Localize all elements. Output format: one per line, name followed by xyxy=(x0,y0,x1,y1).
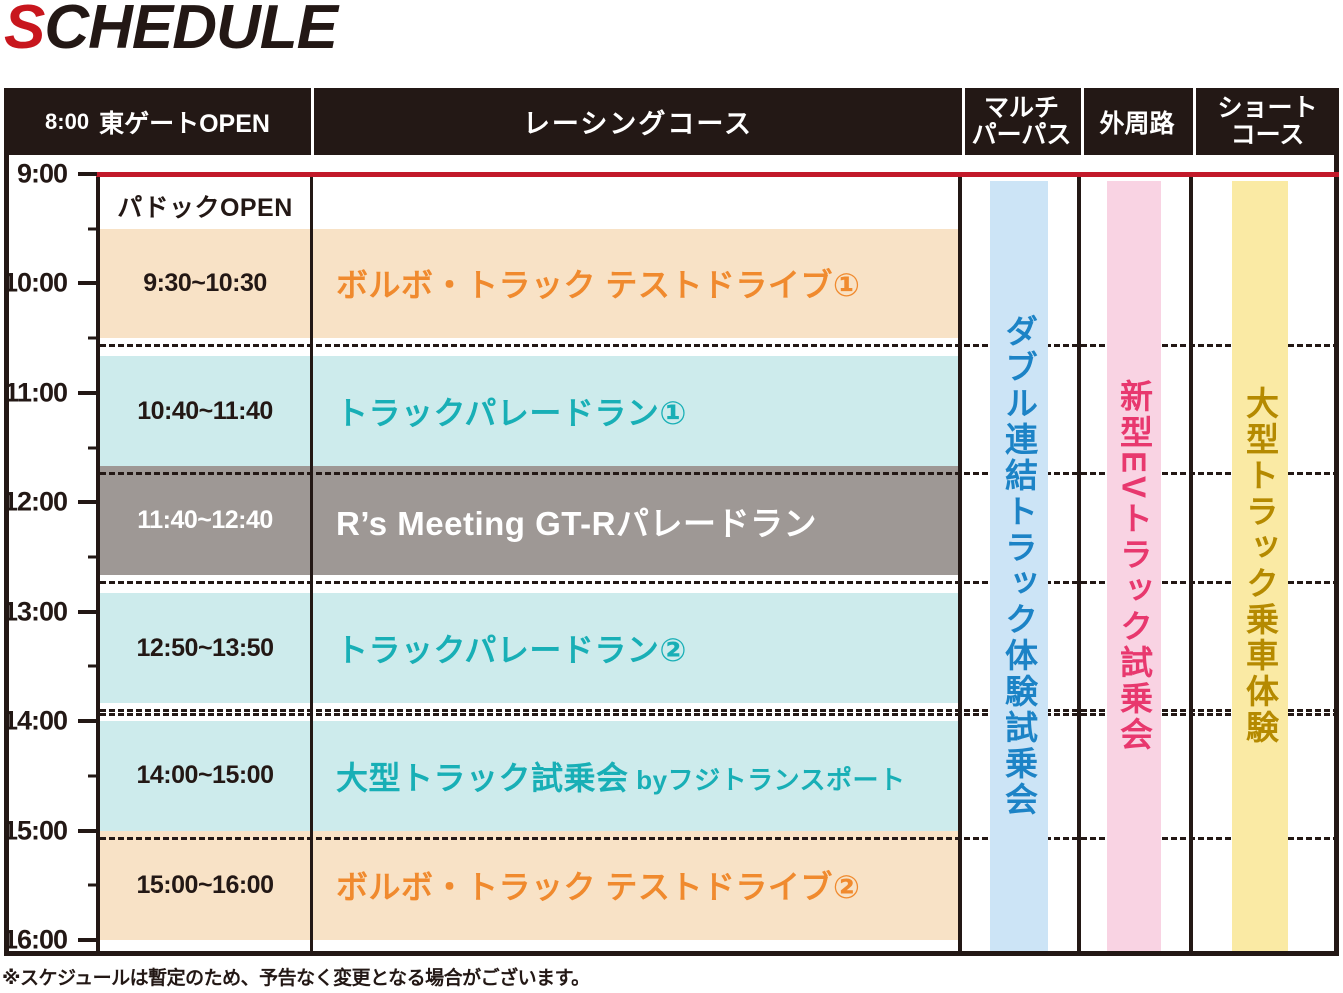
side-activity-label: 大型トラック乗車体験 xyxy=(1244,386,1277,746)
time-tick-mark xyxy=(78,391,97,395)
time-tick-label: 13:00 xyxy=(3,596,67,627)
event-row: 12:50~13:50トラックパレードラン② xyxy=(100,593,958,702)
footnote: ※スケジュールは暫定のため、予告なく変更となる場合がございます。 xyxy=(2,963,590,990)
event-time: 12:50~13:50 xyxy=(100,634,310,663)
event-row: 15:00~16:00ボルボ・トラック テストドライブ② xyxy=(100,831,958,940)
time-tick-minor xyxy=(88,884,97,887)
event-row: パドックOPEN xyxy=(100,174,310,229)
time-tick-label: 15:00 xyxy=(3,815,67,846)
time-tick-minor xyxy=(88,665,97,668)
event-time: 14:00~15:00 xyxy=(100,761,310,790)
side-activity-label: 新型EVトラック試乗会 xyxy=(1118,379,1151,753)
event-name: 大型トラック試乗会 byフジトランスポート xyxy=(310,753,958,799)
header-gate-open: 8:00 東ゲートOPEN xyxy=(4,88,311,155)
event-row: 11:40~12:40R’s Meeting GT-Rパレードラン xyxy=(100,466,958,575)
event-row: 10:40~11:40トラックパレードラン① xyxy=(100,356,958,465)
event-name: R’s Meeting GT-Rパレードラン xyxy=(310,497,958,545)
side-activity-label: ダブル連結トラック体験試乗会 xyxy=(1003,314,1036,818)
header-multi-purpose-line2: パーパス xyxy=(972,122,1072,148)
time-tick-minor xyxy=(88,446,97,449)
column-divider-multi xyxy=(958,177,962,955)
header-multi-purpose: マルチ パーパス xyxy=(965,88,1078,155)
event-name: トラックパレードラン① xyxy=(310,388,958,434)
event-name: ボルボ・トラック テストドライブ② xyxy=(310,862,958,908)
column-divider-outer xyxy=(1077,177,1081,955)
column-divider-time xyxy=(96,177,100,955)
header-short-course-line2: コース xyxy=(1231,122,1305,148)
time-tick-minor xyxy=(88,227,97,230)
nine-oclock-rule xyxy=(96,172,1339,177)
time-tick-mark xyxy=(78,172,97,176)
header-short-course-line1: ショート xyxy=(1217,95,1317,121)
side-activity-bar-short: 大型トラック乗車体験 xyxy=(1232,181,1288,951)
event-row: 14:00~15:00大型トラック試乗会 byフジトランスポート xyxy=(100,721,958,830)
time-tick-label: 16:00 xyxy=(3,925,67,956)
header-multi-purpose-line1: マルチ xyxy=(984,95,1059,121)
time-tick-minor xyxy=(88,556,97,559)
event-name-main: 大型トラック試乗会 xyxy=(336,760,629,796)
schedule-page: SCHEDULE 8:00 東ゲートOPEN レーシングコース マルチ パーパス… xyxy=(0,0,1343,993)
column-divider-short xyxy=(1189,177,1193,955)
time-tick-mark xyxy=(78,719,97,723)
table-header-bar: 8:00 東ゲートOPEN レーシングコース マルチ パーパス 外周路 ショート… xyxy=(4,88,1339,155)
event-name-sub: byフジトランスポート xyxy=(629,765,906,795)
event-name: パドックOPEN xyxy=(100,188,310,224)
time-tick-label: 11:00 xyxy=(4,377,67,408)
time-tick-minor xyxy=(88,337,97,340)
event-time: 10:40~11:40 xyxy=(100,397,310,426)
header-racing-course: レーシングコース xyxy=(314,88,962,155)
time-tick-label: 14:00 xyxy=(3,706,67,737)
page-title: SCHEDULE xyxy=(4,0,337,63)
event-time: 11:40~12:40 xyxy=(100,506,310,535)
event-row: 9:30~10:30ボルボ・トラック テストドライブ① xyxy=(100,229,958,338)
table-border-right xyxy=(1334,88,1339,956)
page-title-initial: S xyxy=(4,0,44,62)
side-activity-bar-multi: ダブル連結トラック体験試乗会 xyxy=(990,181,1048,951)
event-time: 15:00~16:00 xyxy=(100,871,310,900)
time-tick-label: 9:00 xyxy=(17,159,67,190)
side-activity-bar-outer: 新型EVトラック試乗会 xyxy=(1107,181,1161,951)
event-time: 9:30~10:30 xyxy=(100,269,310,298)
time-tick-mark xyxy=(78,281,97,285)
time-tick-label: 12:00 xyxy=(3,487,67,518)
time-tick-mark xyxy=(78,938,97,942)
time-tick-mark xyxy=(78,610,97,614)
time-tick-mark xyxy=(78,829,97,833)
time-tick-mark xyxy=(78,500,97,504)
event-name: ボルボ・トラック テストドライブ① xyxy=(310,260,958,306)
time-tick-label: 10:00 xyxy=(3,268,67,299)
event-name: トラックパレードラン② xyxy=(310,625,958,671)
table-border-bottom xyxy=(4,951,1339,956)
header-short-course: ショート コース xyxy=(1196,88,1339,155)
header-outer-loop: 外周路 xyxy=(1084,88,1190,155)
column-divider-racing xyxy=(310,177,313,955)
page-title-rest: CHEDULE xyxy=(44,0,337,62)
header-gate-label: 東ゲートOPEN xyxy=(99,104,270,140)
time-tick-minor xyxy=(88,774,97,777)
header-gate-time: 8:00 xyxy=(45,109,89,135)
